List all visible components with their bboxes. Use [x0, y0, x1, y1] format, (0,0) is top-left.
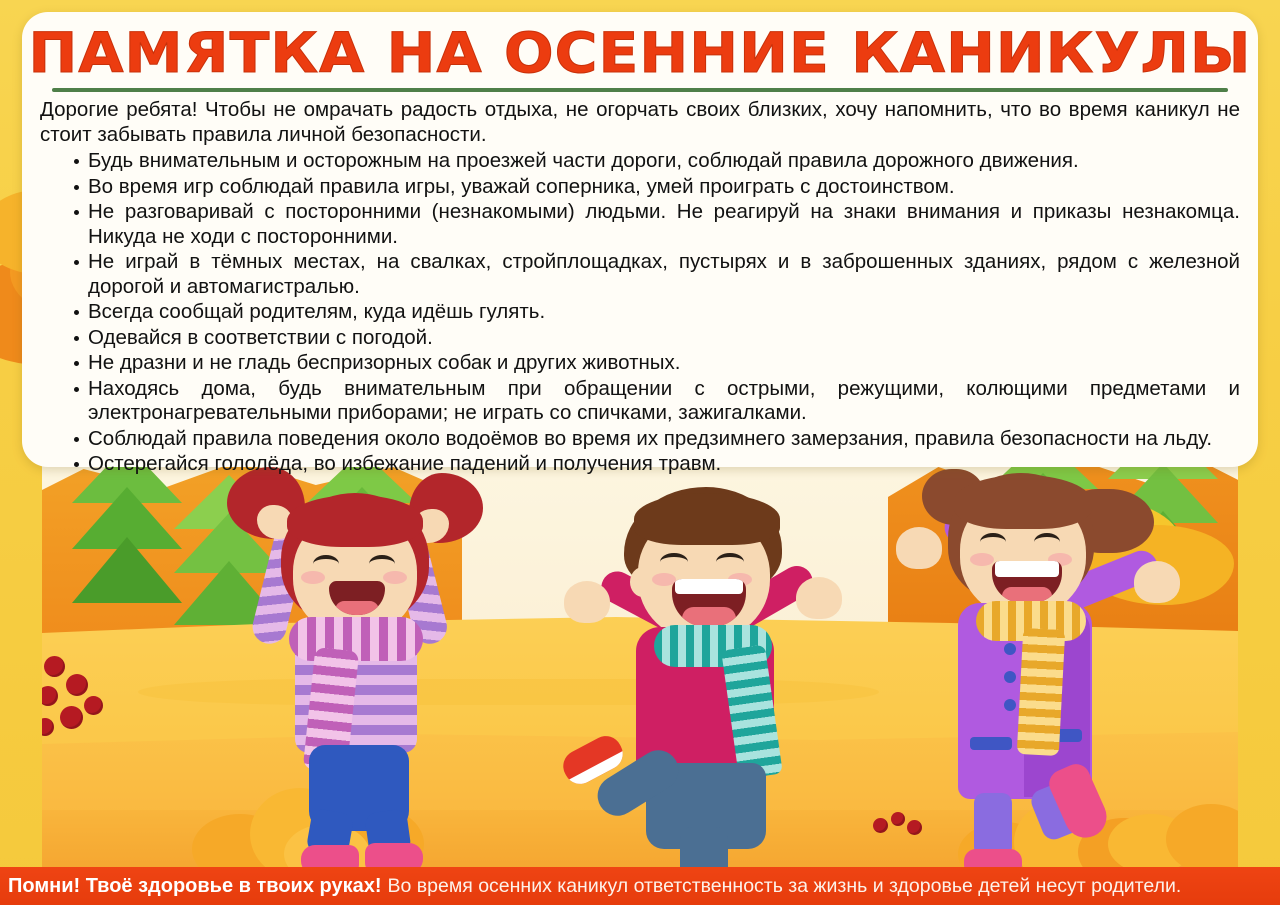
girl-left-eye-left [313, 555, 339, 573]
footer-banner-text: Во время осенних каникул ответственность… [388, 875, 1182, 898]
girl-right-coat-button-3 [1004, 699, 1016, 711]
list-item: Не играй в тёмных местах, на свалках, ст… [74, 250, 1240, 299]
berry-cluster [42, 652, 146, 762]
girl-right-eye-right [1034, 533, 1060, 551]
girl-right-mouth [992, 561, 1062, 603]
girl-right-fringe [954, 475, 1092, 529]
girl-right-hand-right [1134, 561, 1180, 603]
child-girl-right [872, 463, 1192, 873]
boy-fringe [634, 493, 780, 545]
list-item: Находясь дома, будь внимательным при обр… [74, 377, 1240, 426]
girl-right-leg-left [974, 793, 1012, 857]
list-item: Будь внимательным и осторожным на проезж… [74, 149, 1240, 174]
girl-right-scarf-tail [1017, 628, 1066, 756]
list-item: Не разговаривай с посторонними (незнаком… [74, 200, 1240, 249]
scene-backdrop [42, 455, 1238, 880]
boy-eye-right [716, 553, 744, 571]
girl-left-cheek-left [301, 571, 325, 584]
girl-right-coat-button-2 [1004, 671, 1016, 683]
child-boy-middle [542, 475, 862, 875]
boy-hand-right [796, 577, 842, 619]
footer-banner-strong: Помни! Твоё здоровье в твоих руках! [8, 875, 382, 898]
info-card: ПАМЯТКА НА ОСЕННИЕ КАНИКУЛЫ Дорогие ребя… [22, 12, 1258, 467]
list-item: Не дразни и не гладь беспризорных собак … [74, 351, 1240, 376]
girl-left-cheek-right [383, 571, 407, 584]
poster-root: ПАМЯТКА НА ОСЕННИЕ КАНИКУЛЫ Дорогие ребя… [0, 0, 1280, 905]
page-title: ПАМЯТКА НА ОСЕННИЕ КАНИКУЛЫ [4, 22, 1276, 84]
girl-left-mouth [329, 581, 385, 615]
girl-right-eye-left [980, 533, 1006, 551]
girl-right-coat-button-1 [1004, 643, 1016, 655]
boy-eye-left [660, 553, 688, 571]
girl-right-cheek-left [970, 553, 994, 566]
girl-right-hand-left [896, 527, 942, 569]
list-item: Всегда сообщай родителям, куда идёшь гул… [74, 300, 1240, 325]
child-girl-left [217, 467, 507, 867]
title-divider [52, 88, 1228, 92]
girl-left-fringe [287, 495, 423, 547]
boy-mouth [672, 579, 746, 627]
list-item: Остерегайся гололёда, во избежание паден… [74, 452, 1240, 477]
footer-banner: Помни! Твоё здоровье в твоих руках! Во в… [0, 867, 1280, 905]
list-item: Соблюдай правила поведения около водоёмо… [74, 427, 1240, 452]
intro-paragraph: Дорогие ребята! Чтобы не омрачать радост… [40, 98, 1240, 147]
boy-hand-left [564, 581, 610, 623]
safety-rules-list: Будь внимательным и осторожным на проезж… [40, 149, 1240, 477]
list-item: Во время игр соблюдай правила игры, уваж… [74, 175, 1240, 200]
list-item: Одевайся в соответствии с погодой. [74, 326, 1240, 351]
girl-right-coat-pocket-left [970, 737, 1012, 750]
